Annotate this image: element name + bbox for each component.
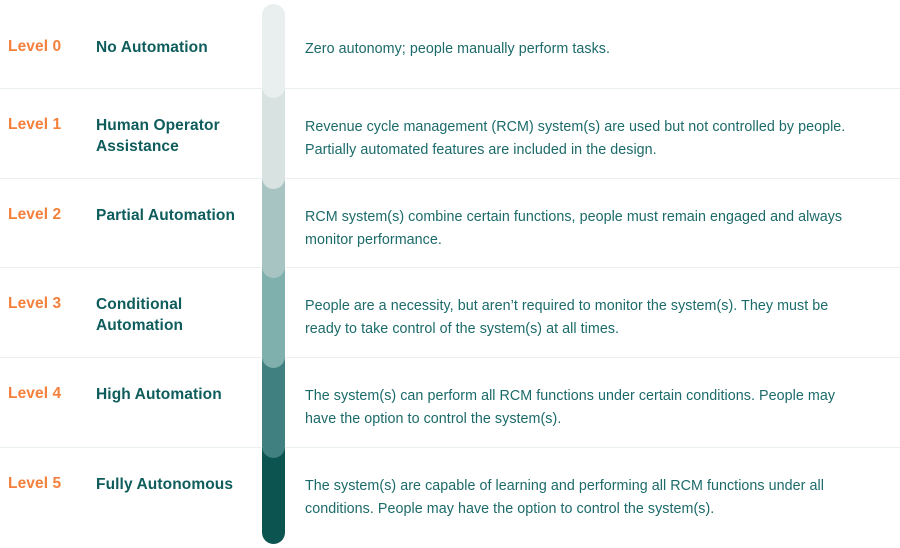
level-description: The system(s) are capable of learning an… xyxy=(305,475,865,521)
automation-maturity-table: Level 0No AutomationZero autonomy; peopl… xyxy=(0,0,900,548)
maturity-row: Level 1Human Operator AssistanceRevenue … xyxy=(0,89,900,179)
level-number-label: Level 0 xyxy=(8,38,61,56)
level-description: Revenue cycle management (RCM) system(s)… xyxy=(305,116,865,162)
level-description: People are a necessity, but aren’t requi… xyxy=(305,295,865,341)
level-number-label: Level 5 xyxy=(8,475,61,493)
level-title: Fully Autonomous xyxy=(96,474,246,495)
level-title: Conditional Automation xyxy=(96,294,246,336)
maturity-row: Level 2Partial AutomationRCM system(s) c… xyxy=(0,179,900,268)
level-title: Human Operator Assistance xyxy=(96,115,246,157)
level-number-label: Level 4 xyxy=(8,385,61,403)
maturity-row: Level 4High AutomationThe system(s) can … xyxy=(0,358,900,448)
level-number-label: Level 1 xyxy=(8,116,61,134)
level-description: The system(s) can perform all RCM functi… xyxy=(305,385,865,431)
level-number-label: Level 3 xyxy=(8,295,61,313)
level-description: RCM system(s) combine certain functions,… xyxy=(305,206,865,252)
maturity-row: Level 5Fully AutonomousThe system(s) are… xyxy=(0,448,900,548)
level-title: No Automation xyxy=(96,37,246,58)
level-title: High Automation xyxy=(96,384,246,405)
level-description: Zero autonomy; people manually perform t… xyxy=(305,38,865,61)
level-title: Partial Automation xyxy=(96,205,246,226)
level-number-label: Level 2 xyxy=(8,206,61,224)
maturity-row: Level 0No AutomationZero autonomy; peopl… xyxy=(0,0,900,89)
maturity-row: Level 3Conditional AutomationPeople are … xyxy=(0,268,900,358)
